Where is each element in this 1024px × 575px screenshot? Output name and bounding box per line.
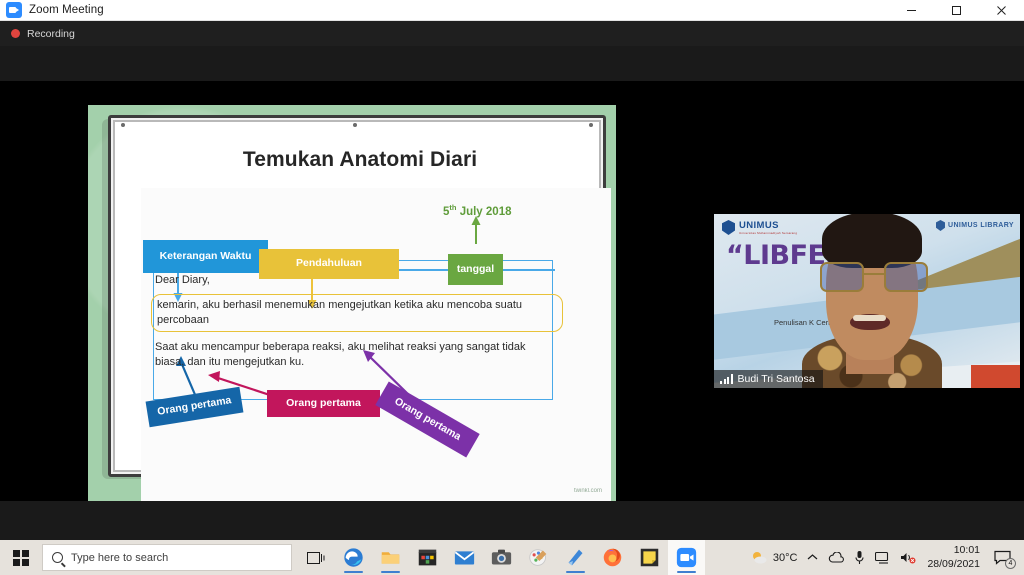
taskbar-app-firefox[interactable] — [594, 540, 631, 575]
taskbar-app-paint[interactable] — [520, 540, 557, 575]
restore-icon[interactable] — [934, 0, 979, 21]
show-hidden-icons-icon[interactable] — [802, 540, 823, 575]
close-icon[interactable] — [979, 0, 1024, 21]
recording-indicator-icon — [11, 29, 20, 38]
minimize-icon[interactable] — [889, 0, 934, 21]
label-tanggal[interactable]: tanggal — [448, 254, 503, 285]
shared-screen-slide[interactable]: Temukan Anatomi Diari — [88, 105, 616, 501]
unimus-logo-subtext: Universitas Muhammadiyah Semarang — [739, 231, 797, 235]
zoom-meeting-window: Recording Temukan Anatomi Diari — [0, 21, 1024, 540]
system-tray: 30°C 10:01 28/09/2021 4 — [746, 540, 1024, 575]
participant-hair — [822, 214, 922, 268]
taskbar-app-microsoft-store[interactable] — [409, 540, 446, 575]
label-pendahuluan[interactable]: Pendahuluan — [259, 249, 399, 279]
frame-screw-icon — [353, 123, 357, 127]
backdrop-band-red — [971, 365, 1020, 388]
unimus-logo: UNIMUS Universitas Muhammadiyah Semarang — [722, 220, 797, 235]
unimus-logo-text: UNIMUS — [739, 220, 797, 231]
slide-title: Temukan Anatomi Diari — [111, 148, 609, 172]
notification-count-badge: 4 — [1005, 558, 1016, 569]
screen: Zoom Meeting Recording — [0, 0, 1024, 575]
mail-icon — [454, 547, 475, 568]
recording-label: Recording — [27, 28, 75, 40]
frame-screw-icon — [589, 123, 593, 127]
diary-line-third: Saat aku mencampur beberapa reaksi, aku … — [155, 340, 555, 370]
firefox-icon — [602, 547, 623, 568]
network-icon[interactable] — [870, 540, 895, 575]
taskbar-app-zoom[interactable] — [668, 540, 705, 575]
store-icon — [417, 547, 438, 568]
taskbar-app-mail[interactable] — [446, 540, 483, 575]
weather-widget[interactable]: 30°C — [746, 540, 803, 575]
unimus-library-logo: UNIMUS LIBRARY — [936, 220, 1014, 231]
taskbar-app-sticky-notes[interactable] — [631, 540, 668, 575]
taskbar-app-microsoft-edge[interactable] — [335, 540, 372, 575]
search-icon — [52, 552, 63, 563]
frame-screw-icon — [121, 123, 125, 127]
clock-time: 10:01 — [927, 544, 980, 557]
microphone-icon[interactable] — [849, 540, 870, 575]
volume-muted-icon[interactable] — [895, 540, 921, 575]
search-placeholder: Type here to search — [71, 552, 168, 564]
taskbar-app-list — [335, 540, 705, 575]
participant-name-bar: Budi Tri Santosa — [714, 370, 823, 388]
library-shield-icon — [936, 220, 945, 231]
task-view-icon[interactable] — [298, 540, 335, 575]
window-title: Zoom Meeting — [29, 4, 104, 16]
windows-taskbar: Type here to search — [0, 540, 1024, 575]
taskbar-app-blue-app[interactable] — [557, 540, 594, 575]
date-text: 5th July 2018 — [443, 203, 511, 218]
weather-temperature: 30°C — [773, 552, 798, 564]
participant-video-tile[interactable]: UNIMUS Universitas Muhammadiyah Semarang… — [714, 214, 1020, 388]
paint-icon — [528, 547, 549, 568]
glasses-lens-left — [820, 262, 864, 292]
search-input[interactable]: Type here to search — [42, 544, 292, 571]
unimus-shield-icon — [722, 220, 735, 235]
label-keterangan-waktu[interactable]: Keterangan Waktu — [143, 240, 268, 273]
blue-app-icon — [565, 547, 586, 568]
diary-line-highlighted: kemarin, aku berhasil menemukan mengejut… — [157, 298, 557, 328]
recording-bar: Recording — [0, 21, 1024, 46]
label-orang-pertama-2[interactable]: Orang pertama — [267, 390, 380, 417]
clock-date: 28/09/2021 — [927, 558, 980, 571]
window-controls — [889, 0, 1024, 21]
windows-start-icon[interactable] — [0, 540, 42, 575]
taskbar-clock[interactable]: 10:01 28/09/2021 — [921, 544, 988, 570]
participant-glasses-icon — [820, 262, 928, 292]
participant-teeth — [853, 315, 886, 321]
zoom-icon — [6, 2, 22, 18]
onedrive-icon[interactable] — [823, 540, 849, 575]
library-logo-text: UNIMUS LIBRARY — [948, 222, 1014, 229]
edge-icon — [343, 547, 364, 568]
sun-cloud-icon — [751, 550, 768, 565]
participant-name: Budi Tri Santosa — [738, 373, 815, 385]
window-titlebar: Zoom Meeting — [0, 0, 1024, 21]
camera-icon — [491, 547, 512, 568]
signal-strength-icon — [720, 374, 733, 384]
zoom-icon — [676, 547, 697, 568]
meeting-stage: Temukan Anatomi Diari — [0, 81, 1024, 501]
glasses-lens-right — [884, 262, 928, 292]
taskbar-app-file-explorer[interactable] — [372, 540, 409, 575]
taskbar-app-camera[interactable] — [483, 540, 520, 575]
sticky-notes-icon — [639, 547, 660, 568]
glasses-bridge — [864, 273, 884, 275]
notifications-icon[interactable]: 4 — [988, 540, 1020, 575]
folder-icon — [380, 547, 401, 568]
whiteboard-frame: Temukan Anatomi Diari — [108, 115, 606, 477]
twinkl-watermark: twinkl.com — [574, 488, 602, 494]
